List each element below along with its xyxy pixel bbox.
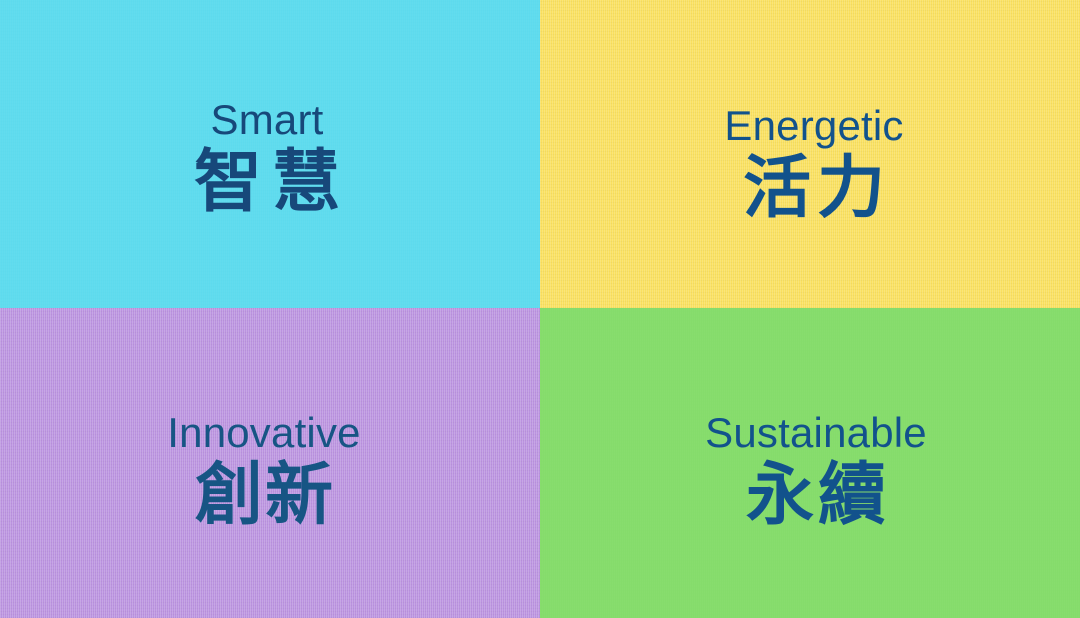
quadrant-energetic[interactable]: Energetic 活力 bbox=[540, 0, 1080, 308]
quadrant-sustainable-text-block: Sustainable 永續 bbox=[705, 412, 927, 530]
quadrant-energetic-text-block: Energetic 活力 bbox=[724, 105, 903, 223]
quadrant-sustainable-label-zh: 永續 bbox=[742, 462, 890, 530]
quadrant-smart-label-en: Smart bbox=[210, 99, 323, 141]
quadrant-sustainable-label-en: Sustainable bbox=[705, 412, 927, 454]
quadrant-energetic-label-en: Energetic bbox=[724, 105, 903, 147]
quadrant-innovative-label-en: Innovative bbox=[167, 412, 360, 454]
quadrant-sustainable[interactable]: Sustainable 永續 bbox=[540, 308, 1080, 618]
quadrant-smart[interactable]: Smart 智慧 bbox=[0, 0, 540, 308]
quadrant-smart-text-block: Smart 智慧 bbox=[184, 99, 350, 217]
quadrant-smart-label-zh: 智慧 bbox=[184, 149, 350, 217]
quadrant-innovative-label-zh: 創新 bbox=[193, 462, 335, 530]
quadrant-innovative[interactable]: Innovative 創新 bbox=[0, 308, 540, 618]
brand-values-grid: Smart 智慧 Energetic 活力 Innovative 創新 Sust… bbox=[0, 0, 1080, 618]
quadrant-energetic-label-zh: 活力 bbox=[737, 155, 891, 223]
quadrant-innovative-text-block: Innovative 創新 bbox=[167, 412, 360, 530]
